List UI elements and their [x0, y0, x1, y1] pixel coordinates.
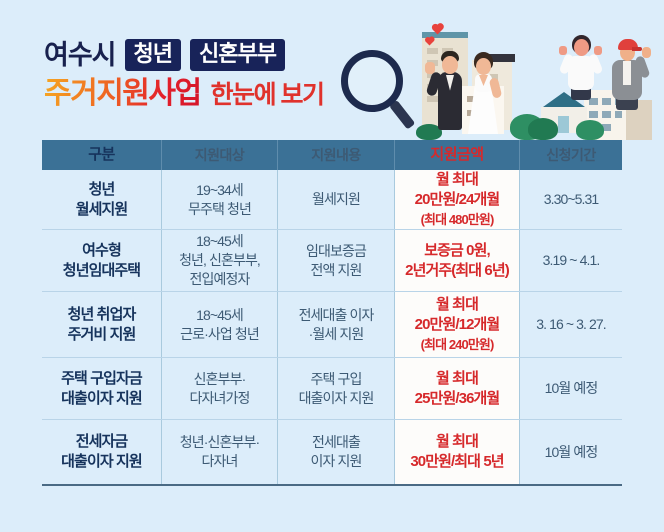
cell-text: 월세지원	[76, 200, 128, 220]
cell-text: 주택 구입	[311, 370, 362, 389]
cell-period: 3.30~5.31	[520, 170, 622, 229]
cell-text: 2년거주(최대 6년)	[405, 261, 509, 281]
cell-text: 대출이자 지원	[299, 389, 374, 408]
cell-text: 10월 예정	[545, 443, 598, 462]
cell-text: 여수형	[82, 241, 121, 261]
city-name: 여수시	[44, 40, 116, 70]
bride-figure	[468, 44, 504, 140]
cell-text: 30만원/최대 5년	[410, 452, 503, 472]
cell-text: 월세지원	[312, 190, 360, 209]
man-with-cap-figure	[612, 34, 656, 112]
cell-text: 전세대출	[312, 433, 360, 452]
woman-figure	[568, 32, 610, 102]
cell-category: 청년 월세지원	[42, 170, 162, 229]
cell-text: 월 최대	[436, 369, 478, 389]
cell-text: 신혼부부·	[194, 370, 246, 389]
cell-text: 월 최대	[436, 170, 478, 190]
cell-text: 3.30~5.31	[544, 190, 599, 209]
cell-text: 다자녀	[202, 452, 238, 471]
column-header-amount: 지원금액	[395, 140, 520, 170]
illustration	[416, 12, 664, 140]
column-header-category: 구분	[42, 140, 162, 170]
cell-text: 20만원/12개월	[415, 315, 500, 335]
cell-text: 19~34세	[196, 181, 243, 200]
cell-category: 전세자금 대출이자 지원	[42, 420, 162, 484]
cell-content: 전세대출 이자 ·월세 지원	[278, 292, 395, 357]
cell-period: 3. 16 ~ 3. 27.	[520, 292, 622, 357]
cell-text: 이자 지원	[311, 452, 362, 471]
table-row: 여수형 청년임대주택 18~45세 청년, 신혼부부, 전입예정자 임대보증금 …	[42, 230, 622, 292]
cell-text: 18~45세	[196, 306, 243, 325]
cell-text: (최대 480만원)	[421, 210, 494, 230]
cell-amount: 보증금 0원, 2년거주(최대 6년)	[395, 230, 520, 291]
cell-content: 주택 구입 대출이자 지원	[278, 358, 395, 419]
cell-amount: 월 최대 25만원/36개월	[395, 358, 520, 419]
cell-text: 20만원/24개월	[415, 190, 500, 210]
cell-text: 전세대출 이자	[299, 306, 374, 325]
column-header-target: 지원대상	[162, 140, 278, 170]
column-header-period: 신청기간	[520, 140, 622, 170]
cell-text: 대출이자 지원	[61, 389, 142, 409]
cell-category: 주택 구입자금 대출이자 지원	[42, 358, 162, 419]
support-programs-table: 구분 지원대상 지원내용 지원금액 신청기간 청년 월세지원 19~34세 무주…	[42, 140, 622, 486]
cell-text: 전입예정자	[190, 270, 250, 289]
cell-target: 신혼부부· 다자녀가정	[162, 358, 278, 419]
badge-youth: 청년	[125, 39, 181, 71]
cell-text: 청년 취업자	[68, 305, 136, 325]
cell-text: 전액 지원	[311, 261, 362, 280]
magnifying-glass-icon	[335, 48, 427, 143]
program-title: 주거지원사업	[44, 77, 201, 111]
cell-text: 근로·사업 청년	[180, 325, 259, 344]
title-line-1: 여수시 청년 신혼부부	[44, 38, 324, 72]
cell-target: 18~45세 청년, 신혼부부, 전입예정자	[162, 230, 278, 291]
cell-amount: 월 최대 20만원/12개월 (최대 240만원)	[395, 292, 520, 357]
cell-text: 3.19 ~ 4.1.	[543, 251, 600, 270]
cell-text: 18~45세	[196, 232, 243, 251]
cell-text: 3. 16 ~ 3. 27.	[536, 315, 606, 334]
table-row: 청년 취업자 주거비 지원 18~45세 근로·사업 청년 전세대출 이자 ·월…	[42, 292, 622, 358]
cell-text: ·월세 지원	[309, 325, 364, 344]
cell-text: 전세자금	[76, 432, 128, 452]
cell-content: 전세대출 이자 지원	[278, 420, 395, 484]
cell-text: 임대보증금	[306, 242, 366, 261]
column-header-content: 지원내용	[278, 140, 395, 170]
table-row: 전세자금 대출이자 지원 청년·신혼부부· 다자녀 전세대출 이자 지원 월 최…	[42, 420, 622, 486]
magnifier-ring	[341, 50, 403, 112]
title-line-2: 주거지원사업 한눈에 보기	[44, 77, 324, 111]
cell-text: 주거비 지원	[68, 325, 136, 345]
magnifier-handle	[389, 100, 415, 130]
cell-period: 3.19 ~ 4.1.	[520, 230, 622, 291]
title-block: 여수시 청년 신혼부부 주거지원사업 한눈에 보기	[44, 38, 324, 111]
cell-text: 무주택 청년	[188, 200, 251, 219]
cell-text: 25만원/36개월	[415, 389, 500, 409]
table-row: 청년 월세지원 19~34세 무주택 청년 월세지원 월 최대 20만원/24개…	[42, 170, 622, 230]
groom-figure	[438, 46, 472, 140]
cell-content: 월세지원	[278, 170, 395, 229]
cell-text: 다자녀가정	[190, 389, 250, 408]
cell-text: 월 최대	[436, 295, 478, 315]
cell-amount: 월 최대 30만원/최대 5년	[395, 420, 520, 484]
cell-category: 여수형 청년임대주택	[42, 230, 162, 291]
program-subtitle: 한눈에 보기	[211, 80, 324, 110]
cell-text: 청년	[89, 180, 115, 200]
cell-content: 임대보증금 전액 지원	[278, 230, 395, 291]
table-header-row: 구분 지원대상 지원내용 지원금액 신청기간	[42, 140, 622, 170]
cell-text: 청년·신혼부부·	[180, 433, 259, 452]
cell-text: 대출이자 지원	[61, 452, 142, 472]
cell-text: 10월 예정	[545, 379, 598, 398]
cell-text: 주택 구입자금	[61, 369, 142, 389]
cell-target: 청년·신혼부부· 다자녀	[162, 420, 278, 484]
cell-text: (최대 240만원)	[421, 335, 494, 355]
cell-text: 청년임대주택	[63, 261, 140, 281]
cell-target: 18~45세 근로·사업 청년	[162, 292, 278, 357]
cell-amount: 월 최대 20만원/24개월 (최대 480만원)	[395, 170, 520, 229]
cell-text: 월 최대	[436, 432, 478, 452]
cell-text: 청년, 신혼부부,	[179, 251, 260, 270]
cell-text: 보증금 0원,	[424, 241, 490, 261]
header-banner: 여수시 청년 신혼부부 주거지원사업 한눈에 보기	[0, 0, 664, 138]
cell-period: 10월 예정	[520, 420, 622, 484]
cell-target: 19~34세 무주택 청년	[162, 170, 278, 229]
cell-period: 10월 예정	[520, 358, 622, 419]
badge-newlyweds: 신혼부부	[190, 39, 285, 71]
cell-category: 청년 취업자 주거비 지원	[42, 292, 162, 357]
table-row: 주택 구입자금 대출이자 지원 신혼부부· 다자녀가정 주택 구입 대출이자 지…	[42, 358, 622, 420]
